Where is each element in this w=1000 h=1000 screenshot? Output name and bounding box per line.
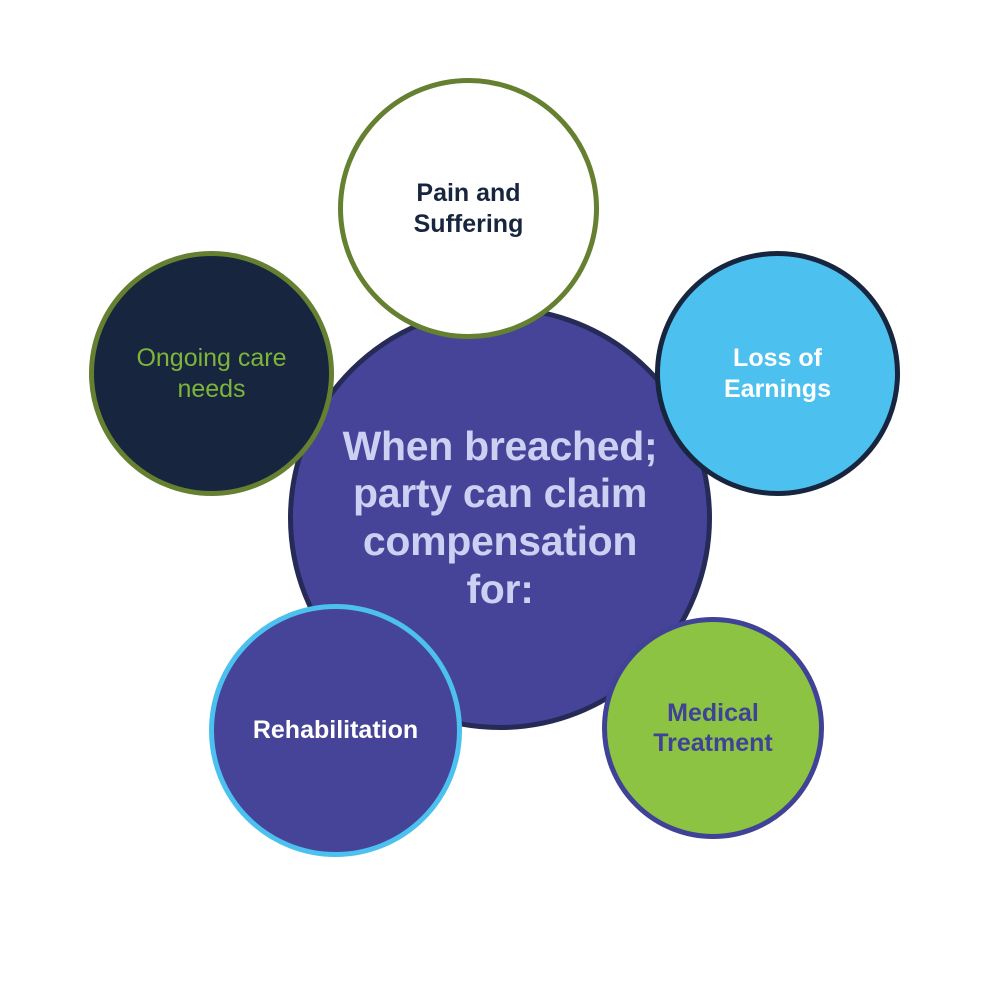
bubble-label-loss-of-earnings: Loss of Earnings xyxy=(676,343,878,404)
bubble-label-rehabilitation: Rehabilitation xyxy=(219,715,452,746)
bubble-pain-and-suffering[interactable]: Pain and Suffering xyxy=(338,78,599,339)
bubble-label-ongoing-care-needs: Ongoing care needs xyxy=(110,343,312,404)
bubble-label-medical-treatment: Medical Treatment xyxy=(622,698,804,759)
bubble-loss-of-earnings[interactable]: Loss of Earnings xyxy=(655,251,900,496)
diagram-canvas: Pain and Suffering Ongoing care needs Lo… xyxy=(0,0,1000,1000)
bubble-label-pain-and-suffering: Pain and Suffering xyxy=(361,178,577,239)
bubble-ongoing-care-needs[interactable]: Ongoing care needs xyxy=(89,251,334,496)
bubble-label-center-compensation: When breached; party can claim compensat… xyxy=(326,423,674,613)
bubble-rehabilitation[interactable]: Rehabilitation xyxy=(209,604,462,857)
bubble-medical-treatment[interactable]: Medical Treatment xyxy=(602,617,824,839)
